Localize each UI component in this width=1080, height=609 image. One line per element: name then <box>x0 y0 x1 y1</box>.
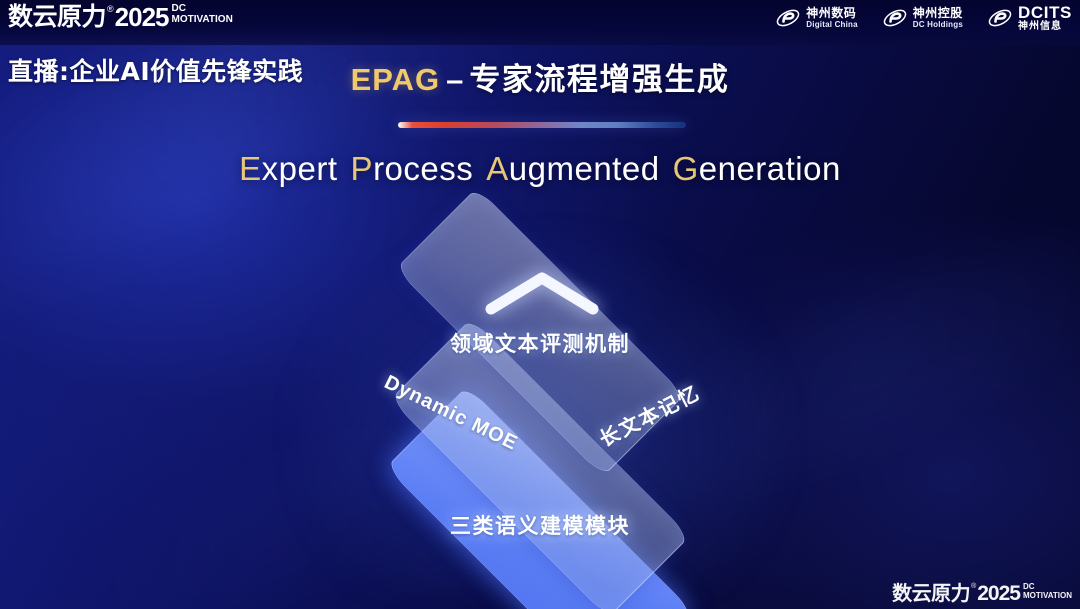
subtitle-rest: eneration <box>699 150 841 187</box>
brand-year: 2025 <box>115 3 169 31</box>
partner-logo-dc-holdings: 神州控股 DC Holdings <box>882 5 963 31</box>
brand-logo: 数云原力 ® 2025 DC MOTIVATION <box>8 3 233 31</box>
subtitle-word: Process <box>351 150 474 187</box>
live-broadcast-label: 直播:企业AI价值先锋实践 <box>8 52 303 88</box>
subtitle-capital: E <box>239 150 262 187</box>
presentation-slide: 数云原力 ® 2025 DC MOTIVATION 直播:企业AI价值先锋实践 … <box>0 0 1080 609</box>
gradient-divider <box>398 122 686 128</box>
subtitle-word: Expert <box>239 150 337 187</box>
partner-name-en: DC Holdings <box>913 21 963 29</box>
watermark-motivation-label: MOTIVATION <box>1023 591 1072 600</box>
brand-motivation-label: MOTIVATION <box>172 14 233 25</box>
watermark-dc-motivation: DC MOTIVATION <box>1023 583 1072 600</box>
partner-logo-dcits: DCITS 神州信息 <box>987 4 1072 32</box>
layer-top-label: 领域文本评测机制 <box>0 328 1080 358</box>
watermark-dc-label: DC <box>1023 583 1072 591</box>
registered-mark-icon: ® <box>107 3 114 15</box>
watermark-name-cn: 数云原力 <box>892 582 970 605</box>
subtitle-rest: xpert <box>262 150 338 187</box>
slide-subtitle: ExpertProcessAugmentedGeneration <box>0 150 1080 188</box>
subtitle-word: Augmented <box>486 150 659 187</box>
registered-mark-icon: ® <box>971 582 976 591</box>
partner-logo-row: 神州数码 Digital China 神州控股 DC Holdings <box>775 4 1072 32</box>
subtitle-capital: G <box>673 150 699 187</box>
brand-dc-label: DC <box>172 4 233 14</box>
partner-name-cn: 神州数码 <box>806 7 858 19</box>
title-acronym: EPAG <box>351 62 441 97</box>
swoosh-icon <box>882 5 908 31</box>
swoosh-icon <box>775 5 801 31</box>
partner-text: 神州控股 DC Holdings <box>913 7 963 29</box>
footer-watermark: 数云原力 ® 2025 DC MOTIVATION <box>892 582 1072 605</box>
partner-logo-digital-china: 神州数码 Digital China <box>775 5 858 31</box>
title-dash: – <box>446 62 463 97</box>
partner-name-en: Digital China <box>806 21 858 29</box>
brand-dc-motivation: DC MOTIVATION <box>172 4 233 25</box>
partner-text: 神州数码 Digital China <box>806 7 858 29</box>
subtitle-capital: P <box>351 150 374 187</box>
subtitle-rest: ugmented <box>509 150 660 187</box>
layer-bottom-label: 三类语义建模模块 <box>0 510 1080 540</box>
title-chinese: 专家流程增强生成 <box>469 62 729 98</box>
swoosh-icon <box>987 5 1013 31</box>
partner-name-cn: 神州信息 <box>1018 22 1072 32</box>
chevron-up-icon <box>484 270 600 316</box>
watermark-year: 2025 <box>977 582 1020 605</box>
subtitle-rest: rocess <box>373 150 473 187</box>
partner-name-en: DCITS <box>1018 4 1072 21</box>
partner-text: DCITS 神州信息 <box>1018 4 1072 32</box>
layered-stack-diagram: 领域文本评测机制 Dynamic MOE 长文本记忆 三类语义建模模块 <box>0 200 1080 600</box>
subtitle-capital: A <box>486 150 509 187</box>
partner-name-cn: 神州控股 <box>913 7 963 19</box>
subtitle-word: Generation <box>673 150 841 187</box>
brand-name-cn: 数云原力 <box>8 3 106 31</box>
